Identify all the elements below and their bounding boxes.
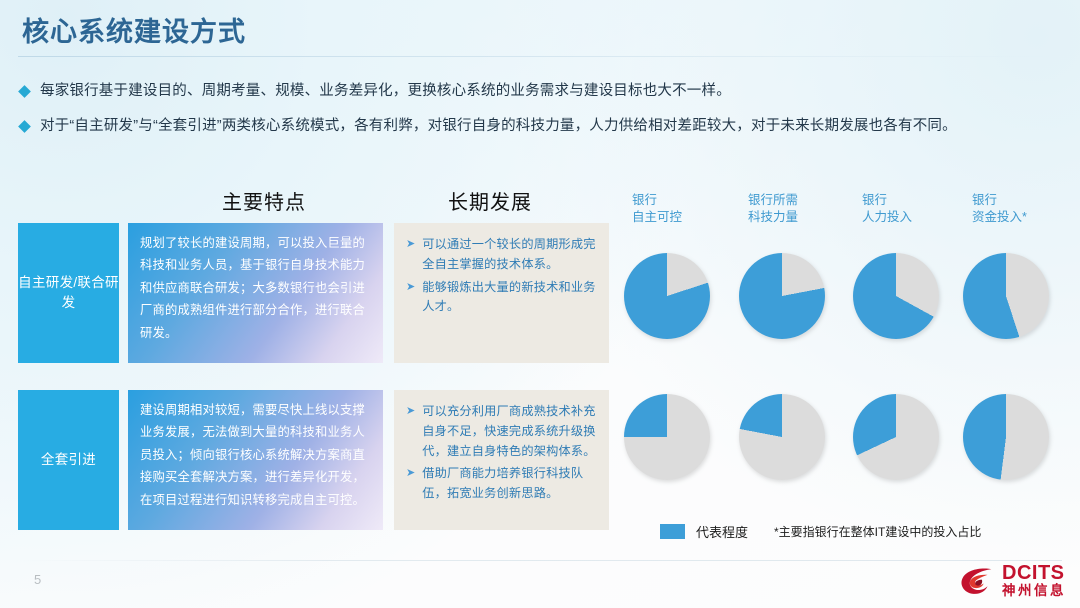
pie-chart-r0-c2 — [853, 253, 939, 339]
footer-divider — [18, 560, 1062, 561]
pie-chart-r0-c1 — [739, 253, 825, 339]
diamond-bullet-icon — [18, 120, 31, 133]
pie-header-2: 银行 人力投入 — [862, 192, 912, 225]
slide-root: 核心系统建设方式 每家银行基于建设目的、周期考量、规模、业务差异化，更换核心系统… — [0, 0, 1080, 608]
development-text: 能够锻炼出大量的新技术和业务人才。 — [422, 278, 599, 318]
logo-text-cn: 神州信息 — [1002, 583, 1066, 600]
pie-header-0: 银行 自主可控 — [632, 192, 682, 225]
legend-label: 代表程度 — [696, 522, 748, 541]
column-heading-development: 长期发展 — [448, 186, 532, 215]
bullet-item: 每家银行基于建设目的、周期考量、规模、业务差异化，更换核心系统的业务需求与建设目… — [18, 82, 1068, 100]
arrow-bullet-icon: ➤ — [406, 237, 415, 250]
pie-chart-r1-c3 — [963, 394, 1049, 480]
bullet-text: 每家银行基于建设目的、周期考量、规模、业务差异化，更换核心系统的业务需求与建设目… — [40, 82, 731, 100]
pie-header-3: 银行 资金投入* — [972, 192, 1027, 225]
logo-text-en: DCITS — [1002, 563, 1066, 583]
pie-header-line1: 银行所需 — [748, 192, 798, 209]
pie-header-line1: 银行 — [862, 192, 912, 209]
pie-header-line2: 自主可控 — [632, 209, 682, 226]
row-label: 全套引进 — [18, 390, 119, 530]
pie-chart-r0-c3 — [963, 253, 1049, 339]
pie-chart-r0-c0 — [624, 253, 710, 339]
brand-logo: DCITS 神州信息 — [959, 563, 1066, 600]
pie-chart-r1-c0 — [624, 394, 710, 480]
pie-header-line1: 银行 — [632, 192, 682, 209]
development-item: ➤ 借助厂商能力培养银行科技队伍，拓宽业务创新思路。 — [400, 464, 599, 504]
pie-chart-r1-c2 — [853, 394, 939, 480]
legend-footnote: *主要指银行在整体IT建设中的投入占比 — [774, 523, 981, 540]
dcits-swirl-icon — [959, 566, 997, 597]
row-features-text: 规划了较长的建设周期，可以投入巨量的科技和业务人员，基于银行自身技术能力和供应商… — [128, 223, 383, 363]
arrow-bullet-icon: ➤ — [406, 280, 415, 293]
chart-legend: 代表程度 *主要指银行在整体IT建设中的投入占比 — [660, 522, 981, 541]
pie-header-line1: 银行 — [972, 192, 1027, 209]
development-text: 借助厂商能力培养银行科技队伍，拓宽业务创新思路。 — [422, 464, 599, 504]
development-item: ➤ 可以充分利用厂商成熟技术补充自身不足，快速完成系统升级换代，建立自身特色的架… — [400, 402, 599, 461]
page-title: 核心系统建设方式 — [22, 10, 246, 49]
development-text: 可以通过一个较长的周期形成完全自主掌握的技术体系。 — [422, 235, 599, 275]
pie-header-line2: 科技力量 — [748, 209, 798, 226]
development-item: ➤ 能够锻炼出大量的新技术和业务人才。 — [400, 278, 599, 318]
legend-swatch-icon — [660, 524, 685, 539]
diamond-bullet-icon — [18, 85, 31, 98]
row-development-panel: ➤ 可以通过一个较长的周期形成完全自主掌握的技术体系。 ➤ 能够锻炼出大量的新技… — [394, 223, 609, 363]
bullet-item: 对于“自主研发”与“全套引进”两类核心系统模式，各有利弊，对银行自身的科技力量，… — [18, 117, 1068, 135]
bullet-list: 每家银行基于建设目的、周期考量、规模、业务差异化，更换核心系统的业务需求与建设目… — [18, 82, 1068, 152]
row-development-panel: ➤ 可以充分利用厂商成熟技术补充自身不足，快速完成系统升级换代，建立自身特色的架… — [394, 390, 609, 530]
page-number: 5 — [34, 572, 41, 587]
pie-chart-r1-c1 — [739, 394, 825, 480]
bullet-text: 对于“自主研发”与“全套引进”两类核心系统模式，各有利弊，对银行自身的科技力量，… — [40, 117, 957, 135]
pie-header-line2: 人力投入 — [862, 209, 912, 226]
arrow-bullet-icon: ➤ — [406, 466, 415, 479]
arrow-bullet-icon: ➤ — [406, 404, 415, 417]
title-divider — [18, 56, 1062, 57]
row-label: 自主研发/联合研发 — [18, 223, 119, 363]
pie-header-line2: 资金投入* — [972, 209, 1027, 226]
development-text: 可以充分利用厂商成熟技术补充自身不足，快速完成系统升级换代，建立自身特色的架构体… — [422, 402, 599, 461]
logo-text-block: DCITS 神州信息 — [1002, 563, 1066, 600]
pie-header-1: 银行所需 科技力量 — [748, 192, 798, 225]
column-heading-features: 主要特点 — [222, 186, 306, 215]
row-features-text: 建设周期相对较短，需要尽快上线以支撑业务发展，无法做到大量的科技和业务人员投入；… — [128, 390, 383, 530]
development-item: ➤ 可以通过一个较长的周期形成完全自主掌握的技术体系。 — [400, 235, 599, 275]
